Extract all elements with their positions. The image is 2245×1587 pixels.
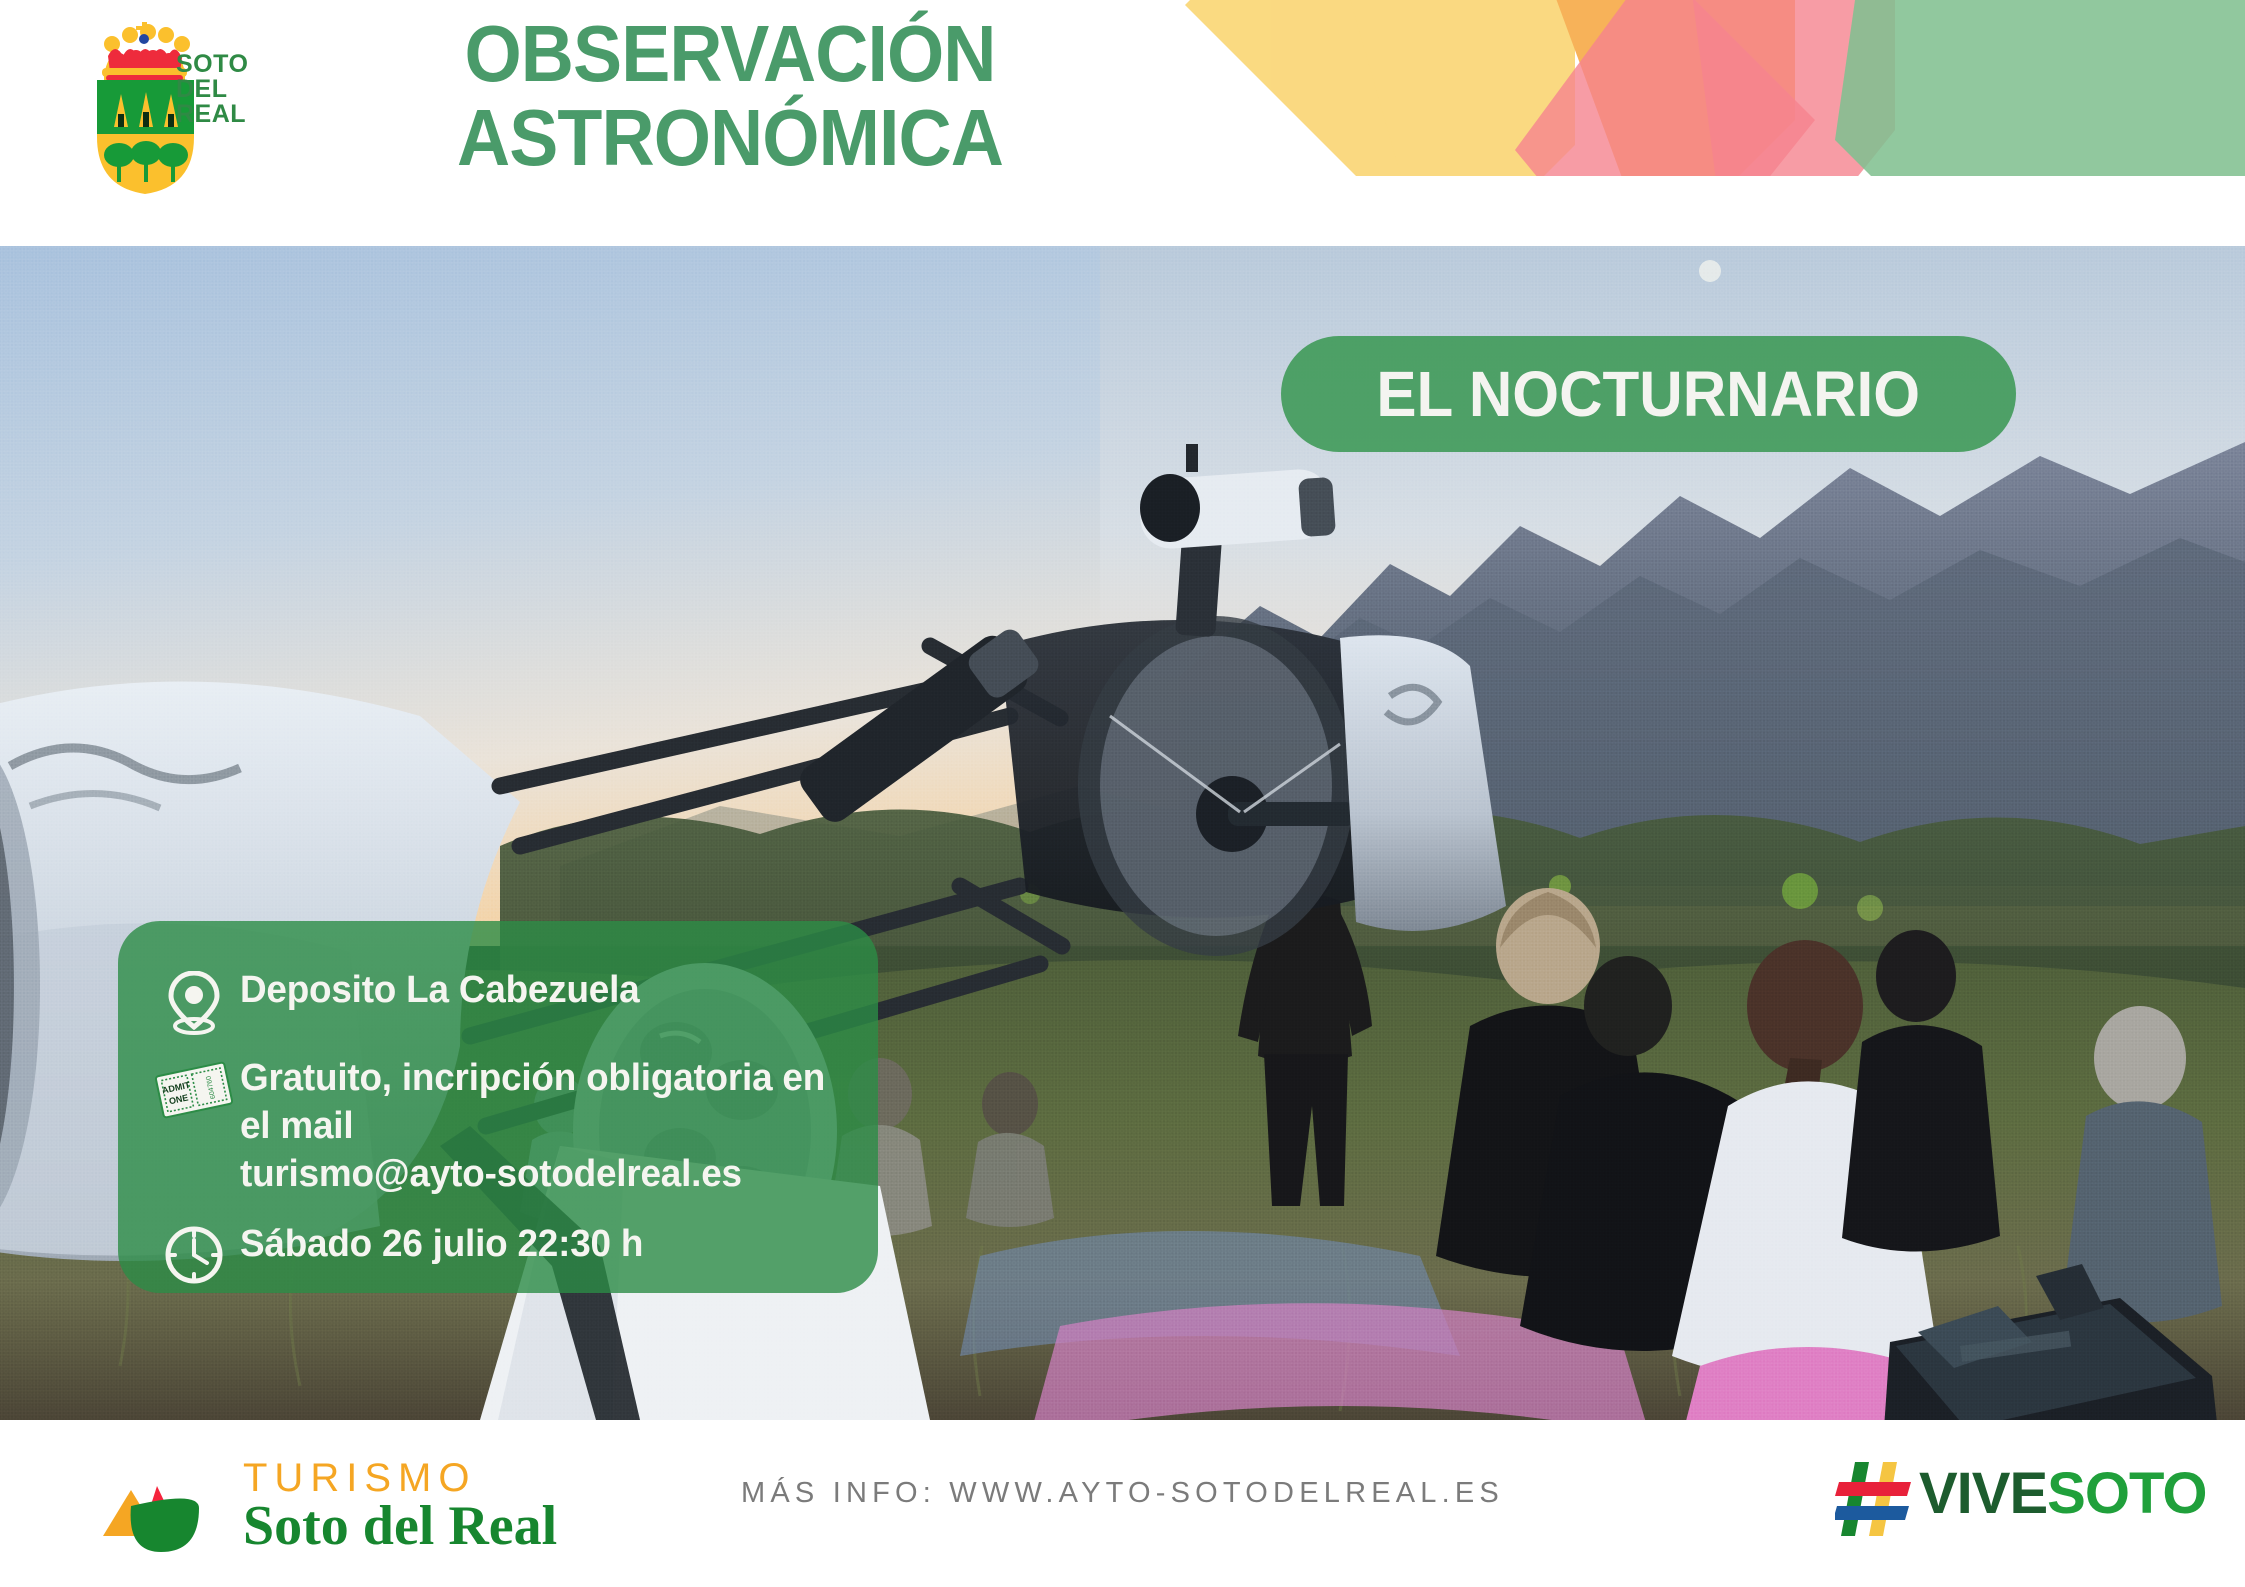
crest-line-2: DEL: [176, 77, 296, 102]
location-pin-icon: [148, 967, 240, 1035]
info-registration-line1: Gratuito, incripción obligatoria en el m…: [240, 1057, 825, 1147]
soto-label: SOTO: [2047, 1461, 2206, 1526]
ticket-icon: ADMIT ONE 604760: [148, 1055, 240, 1121]
info-row-location: Deposito La Cabezuela: [148, 967, 848, 1035]
info-location-text: Deposito La Cabezuela: [240, 967, 639, 1015]
info-row-registration: ADMIT ONE 604760 Gratuito, incripción ob…: [148, 1055, 848, 1199]
info-registration-text: Gratuito, incripción obligatoria en el m…: [240, 1055, 830, 1199]
poster-header: SOTO DEL REAL OBSERVACIÓN ASTRONÓMICA: [0, 0, 2245, 246]
event-details-box: Deposito La Cabezuela ADMIT ONE 604760 G…: [118, 921, 878, 1293]
crest-wordmark: SOTO DEL REAL: [176, 52, 296, 127]
crest-line-1: SOTO: [176, 52, 296, 77]
status-badge: EL NOCTURNARIO: [1281, 336, 2016, 452]
info-datetime-text: Sábado 26 julio 22:30 h: [240, 1221, 643, 1269]
vivesoto-logo: VIVESOTO: [1835, 1458, 2215, 1544]
title-line-1: OBSERVACIÓN: [362, 12, 1098, 96]
hashtag-icon: [1835, 1462, 1913, 1536]
page-title: OBSERVACIÓN ASTRONÓMICA: [330, 12, 1130, 180]
vivesoto-wordmark: VIVESOTO: [1919, 1460, 2206, 1527]
info-registration-email: turismo@ayto-sotodelreal.es: [240, 1151, 830, 1199]
poster-footer: TURISMO Soto del Real MÁS INFO: WWW.AYTO…: [0, 1420, 2245, 1587]
title-line-2: ASTRONÓMICA: [362, 96, 1098, 180]
badge-label: EL NOCTURNARIO: [1377, 357, 1921, 431]
overlapping-diamonds-decoration-icon: [1175, 0, 2245, 176]
vive-label: VIVE: [1919, 1461, 2047, 1526]
clock-icon: [148, 1221, 240, 1285]
crest-line-3: REAL: [176, 102, 296, 127]
info-row-datetime: Sábado 26 julio 22:30 h: [148, 1221, 848, 1285]
poster-root: SOTO DEL REAL OBSERVACIÓN ASTRONÓMICA: [0, 0, 2245, 1587]
